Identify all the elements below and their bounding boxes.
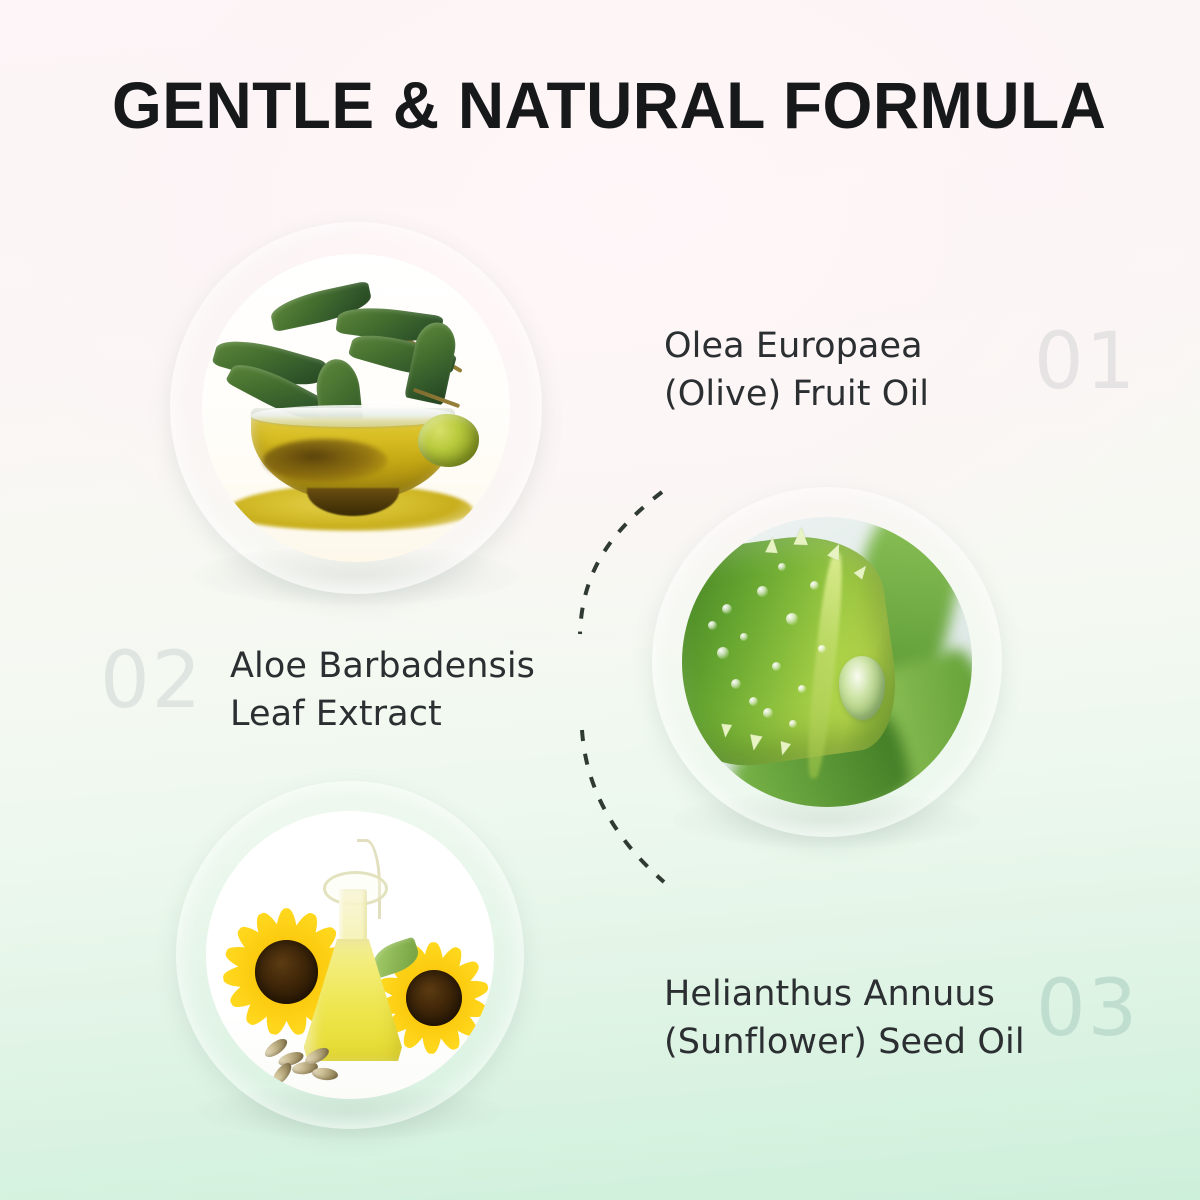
dew-drop [810,581,819,590]
ingredient-medallion-sunflower [176,781,524,1129]
dew-drop [772,662,781,671]
dew-drop [740,633,748,641]
ingredient-name-line2: Leaf Extract [230,694,442,734]
olive-fruit [418,414,480,466]
step-number-02: 02 [100,642,203,720]
olive-photo [202,254,511,563]
aloe-spike [747,734,762,751]
ingredient-name-line2: (Olive) Fruit Oil [664,374,929,414]
sunflower-photo [206,811,495,1100]
poster-canvas: GENTLE & NATURAL FORMULA [0,0,1200,1200]
step-number-03: 03 [1036,970,1139,1048]
oil-carafe [304,839,402,1064]
sunflower-center-disc [406,970,462,1026]
olive-bowl-shadow [263,439,387,482]
dew-drop [778,563,786,571]
ingredient-name-line1: Olea Europaea [664,326,923,366]
ingredient-label-aloe: Aloe BarbadensisLeaf Extract [230,642,535,739]
dew-drop [818,645,826,653]
aloe-spike [720,724,732,738]
carafe-body-with-oil [304,939,402,1065]
step-number-01: 01 [1034,323,1137,401]
page-title: GENTLE & NATURAL FORMULA [112,72,1082,138]
ingredient-label-olive: Olea Europaea(Olive) Fruit Oil [664,322,929,419]
ingredient-name-line2: (Sunflower) Seed Oil [664,1022,1025,1062]
ingredient-name-line1: Aloe Barbadensis [230,646,535,686]
sunflower-seed [269,1060,294,1088]
ingredient-label-sunflower: Helianthus Annuus(Sunflower) Seed Oil [664,970,1025,1067]
aloe-photo [682,517,973,808]
dew-drop [786,613,798,625]
aloe-spike [794,527,809,545]
aloe-spike [765,537,779,553]
dew-drop [749,697,758,706]
ingredient-medallion-olive [170,222,542,594]
ingredient-name-line1: Helianthus Annuus [664,974,995,1014]
ingredient-medallion-aloe [652,487,1002,837]
sunflower-seed [312,1066,339,1081]
